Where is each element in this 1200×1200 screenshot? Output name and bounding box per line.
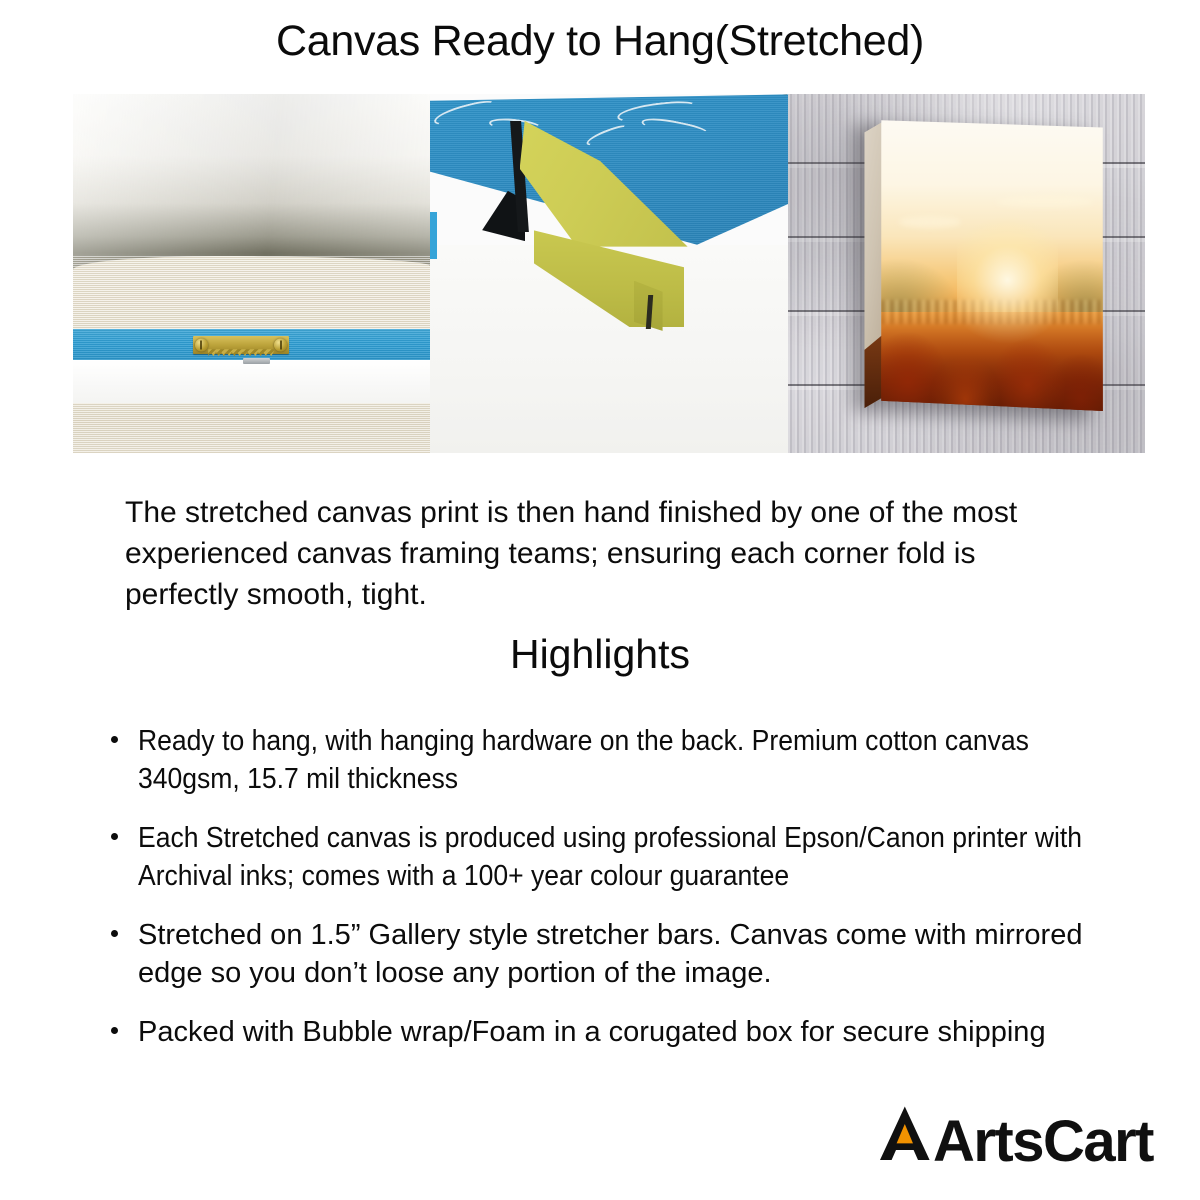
page-title: Canvas Ready to Hang(Stretched): [0, 16, 1200, 66]
bullet-dot-icon: [111, 1027, 118, 1034]
canvas-staple: [243, 358, 270, 364]
product-image-gallery: [73, 94, 1145, 453]
sawtooth-hanger-icon: [193, 336, 289, 355]
canvas-mirrored-edge: [864, 121, 884, 408]
artwork-cloud: [996, 196, 1093, 208]
artscart-logo[interactable]: ArtsCart: [878, 1105, 1153, 1167]
canvas-weave-band: [73, 401, 430, 453]
gallery-image-hung-canvas-on-wall: [788, 94, 1145, 453]
canvas-white-band: [73, 360, 430, 403]
highlights-list: Ready to hang, with hanging hardware on …: [104, 722, 1134, 1072]
list-item: Packed with Bubble wrap/Foam in a coruga…: [104, 1013, 1134, 1051]
bullet-dot-icon: [111, 736, 118, 743]
list-item-text: Stretched on 1.5” Gallery style stretche…: [138, 919, 1082, 989]
list-item-text: Packed with Bubble wrap/Foam in a coruga…: [138, 1016, 1046, 1048]
artwork-foreground: [881, 312, 1103, 411]
list-item: Each Stretched canvas is produced using …: [104, 819, 1134, 895]
artwork-cloud: [899, 216, 961, 228]
gallery-image-corner-fold-detail: [430, 94, 787, 453]
print-wisp: [584, 123, 629, 148]
infographic-page: Canvas Ready to Hang(Stretched): [0, 0, 1200, 1200]
print-wisp: [432, 97, 498, 128]
hanger-screw-right: [274, 338, 287, 351]
print-wisp: [616, 99, 697, 125]
list-item: Stretched on 1.5” Gallery style stretche…: [104, 916, 1134, 992]
canvas-printed-artwork: [881, 120, 1103, 411]
highlights-heading: Highlights: [0, 630, 1200, 678]
bullet-dot-icon: [111, 930, 118, 937]
list-item: Ready to hang, with hanging hardware on …: [104, 722, 1134, 798]
list-item-text: Each Stretched canvas is produced using …: [138, 819, 1134, 895]
logo-wordmark: ArtsCart: [933, 1114, 1153, 1170]
triangle-in-letter-a-icon: [878, 1105, 932, 1161]
hanger-screw-left: [195, 338, 208, 351]
print-wisp: [640, 114, 710, 142]
list-item-text: Ready to hang, with hanging hardware on …: [138, 722, 1134, 798]
intro-paragraph: The stretched canvas print is then hand …: [125, 492, 1085, 615]
gallery-image-canvas-back-hanger: [73, 94, 430, 453]
bullet-dot-icon: [111, 833, 118, 840]
canvas-edge-sliver: [430, 212, 437, 259]
